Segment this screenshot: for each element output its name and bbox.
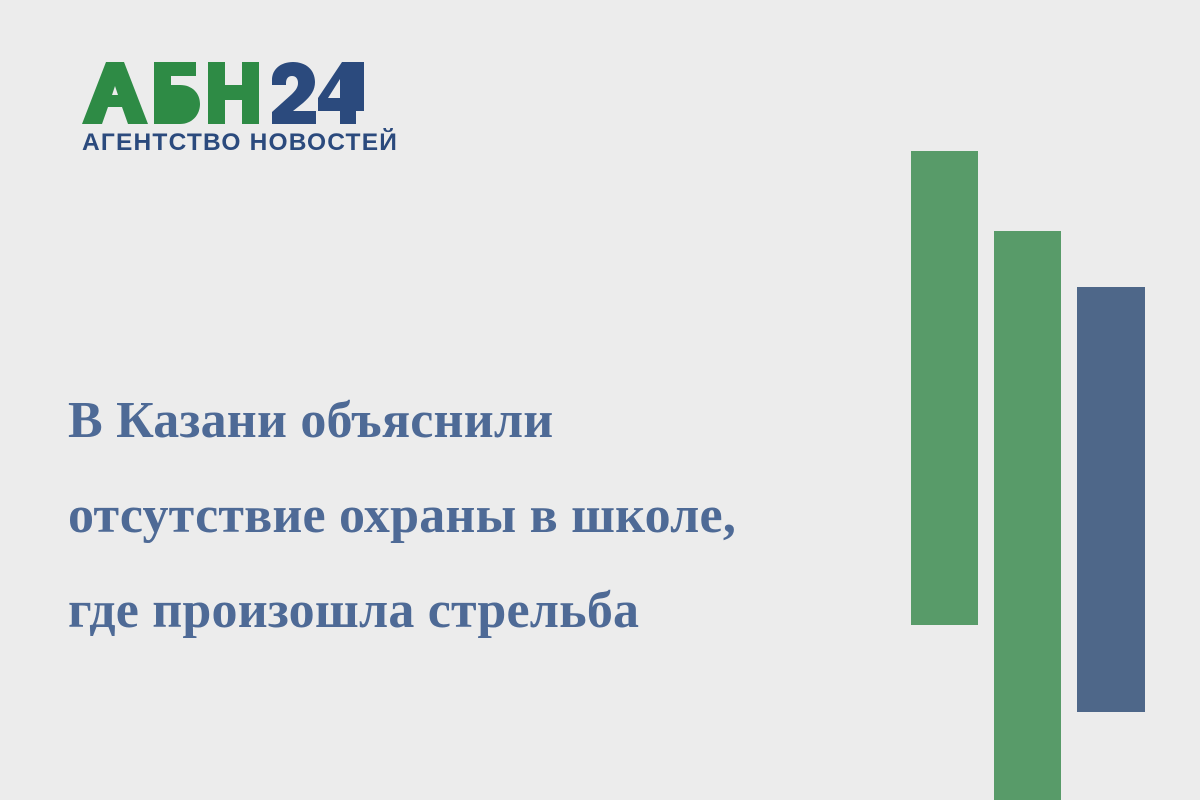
- logo-wordmark-abn24-icon: [82, 62, 364, 124]
- decorative-bar-tall-green: [911, 151, 978, 625]
- decorative-bar-short-blue: [1077, 287, 1145, 712]
- headline-line-3: где произошла стрельба: [68, 563, 888, 658]
- news-card: АГЕНТСТВО НОВОСТЕЙ В Казани объяснили от…: [0, 0, 1200, 800]
- headline-line-2: отсутствие охраны в школе,: [68, 468, 888, 563]
- brand-logo[interactable]: АГЕНТСТВО НОВОСТЕЙ: [82, 62, 372, 156]
- headline-line-1: В Казани объяснили: [68, 373, 888, 468]
- logo-subtitle: АГЕНТСТВО НОВОСТЕЙ: [82, 131, 372, 156]
- headline: В Казани объяснили отсутствие охраны в ш…: [68, 373, 888, 658]
- decorative-bar-middle-green: [994, 231, 1061, 800]
